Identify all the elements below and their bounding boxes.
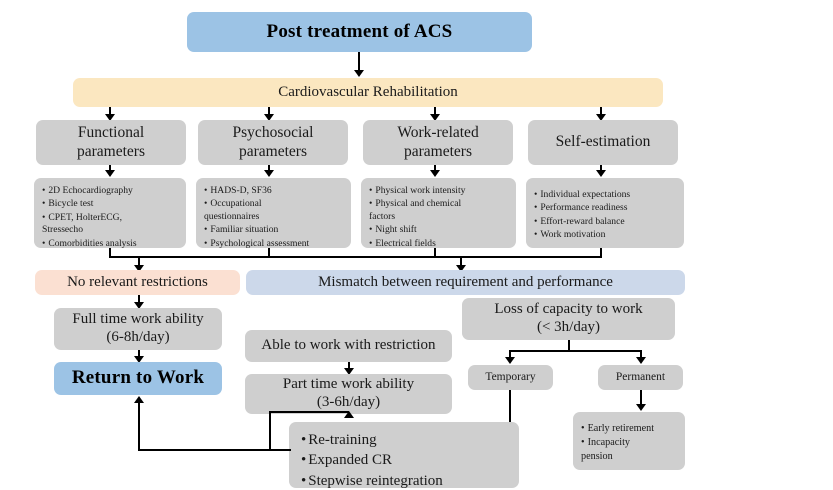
list-item: Stepwise reintegration [301,472,511,490]
connector-title-to-rehab [358,52,360,72]
node-work-related-parameters: Work-related parameters [363,120,513,165]
node-work-related-parameters-label: Work-related parameters [397,124,478,161]
list-pension-outcomes: Early retirement Incapacity pension [573,412,685,470]
connector-bracket-horizontal [109,256,602,258]
list-item: CPET, HolterECG, Stressecho [42,212,181,238]
node-able-to-work-with-restriction: Able to work with restriction [245,330,452,362]
connector-loss-branch-horizontal [509,350,642,352]
node-psychosocial-parameters-label: Psychosocial parameters [233,124,314,161]
list-item: Psychological assessment [204,238,346,251]
list-item: Night shift [369,224,511,237]
list-item: Physical and chemical factors [369,198,511,224]
node-temporary: Temporary [468,365,553,390]
node-post-treatment-acs: Post treatment of ACS [187,12,532,52]
connector-measures-bottom-link [269,449,291,451]
list-item: Incapacity pension [581,436,680,463]
list-psychosocial-details-items: HADS-D, SF36 Occupational questionnaires… [204,185,346,250]
arrow-loss-to-temporary [505,357,515,364]
node-part-time-work-ability-label: Part time work ability (3-6h/day) [283,376,414,411]
arrow-cat-3-to-list-3 [596,170,606,177]
list-item: Performance readiness [534,202,679,215]
node-permanent: Permanent [598,365,683,390]
connector-measures-to-return-vertical [138,403,140,451]
list-item: Electrical fields [369,238,511,251]
list-item: Familiar situation [204,224,346,237]
node-return-to-work-label: Return to Work [72,367,204,389]
list-self-estimation-details: Individual expectations Performance read… [526,178,684,248]
bar-mismatch-requirement-performance-label: Mismatch between requirement and perform… [318,274,613,292]
node-loss-of-capacity-to-work-label: Loss of capacity to work (< 3h/day) [494,301,642,336]
node-cardiovascular-rehabilitation-label: Cardiovascular Rehabilitation [278,84,458,102]
connector-measures-to-return-horizontal [138,449,271,451]
list-item: Expanded CR [301,451,511,471]
connector-measures-to-part-time-horizontal [269,411,349,413]
node-cardiovascular-rehabilitation: Cardiovascular Rehabilitation [73,78,663,107]
list-measures-items: Re-training Expanded CR Stepwise reinteg… [301,431,511,490]
list-item: Work motivation [534,229,679,242]
bar-mismatch-requirement-performance: Mismatch between requirement and perform… [246,270,685,295]
node-self-estimation: Self-estimation [528,120,678,165]
list-item: Comorbidities analysis [42,238,181,251]
node-part-time-work-ability: Part time work ability (3-6h/day) [245,374,452,414]
node-return-to-work: Return to Work [54,362,222,395]
bar-no-relevant-restrictions: No relevant restrictions [35,270,240,295]
arrow-cat-2-to-list-2 [430,170,440,177]
list-item: Physical work intensity [369,185,511,198]
node-functional-parameters-label: Functional parameters [77,124,145,161]
list-work-related-details-items: Physical work intensity Physical and che… [369,185,511,250]
node-permanent-label: Permanent [616,371,665,385]
arrow-permanent-to-pension [636,404,646,411]
arrow-measures-to-return [134,396,144,403]
list-item: Early retirement [581,422,680,436]
arrow-cat-0-to-list-0 [105,170,115,177]
arrow-cat-1-to-list-1 [264,170,274,177]
node-temporary-label: Temporary [485,371,535,385]
list-functional-details: 2D Echocardiography Bicycle test CPET, H… [34,178,186,248]
list-functional-details-items: 2D Echocardiography Bicycle test CPET, H… [42,185,181,250]
bar-no-relevant-restrictions-label: No relevant restrictions [67,274,208,292]
list-item: Occupational questionnaires [204,198,346,224]
list-item: Re-training [301,431,511,451]
arrow-title-to-rehab [354,70,364,77]
node-full-time-work-ability: Full time work ability (6-8h/day) [54,308,222,350]
node-functional-parameters: Functional parameters [36,120,186,165]
list-item: Bicycle test [42,198,181,211]
list-psychosocial-details: HADS-D, SF36 Occupational questionnaires… [196,178,351,248]
list-measures: Re-training Expanded CR Stepwise reinteg… [289,422,519,488]
node-psychosocial-parameters: Psychosocial parameters [198,120,348,165]
connector-measures-to-part-time-vertical-left [269,411,271,450]
list-item: 2D Echocardiography [42,185,181,198]
node-full-time-work-ability-label: Full time work ability (6-8h/day) [72,311,203,346]
arrow-loss-to-permanent [636,357,646,364]
list-pension-outcomes-items: Early retirement Incapacity pension [581,422,680,463]
list-item: HADS-D, SF36 [204,185,346,198]
list-item: Effort-reward balance [534,216,679,229]
list-work-related-details: Physical work intensity Physical and che… [361,178,516,248]
list-item: Individual expectations [534,189,679,202]
node-self-estimation-label: Self-estimation [556,133,651,151]
node-post-treatment-acs-label: Post treatment of ACS [267,21,453,43]
flowchart-canvas: Post treatment of ACS Cardiovascular Reh… [0,0,833,490]
node-loss-of-capacity-to-work: Loss of capacity to work (< 3h/day) [462,298,675,340]
list-self-estimation-details-items: Individual expectations Performance read… [534,189,679,242]
arrow-measures-to-part-time [344,411,354,418]
node-able-to-work-with-restriction-label: Able to work with restriction [261,337,435,355]
